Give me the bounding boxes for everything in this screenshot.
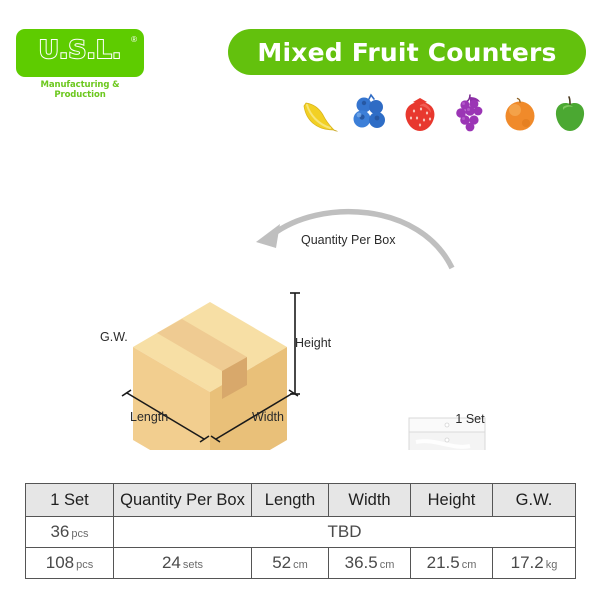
unit-length: cm bbox=[293, 559, 308, 571]
value-length: 52 bbox=[272, 553, 291, 572]
logo-badge: U.S.L. ® bbox=[16, 29, 144, 77]
header-one-set: 1 Set bbox=[26, 484, 114, 517]
header-quantity-per-box: Quantity Per Box bbox=[114, 484, 252, 517]
blueberries-fruit-icon bbox=[350, 90, 390, 138]
cell-tbd: TBD bbox=[114, 517, 576, 548]
brand-tagline: Manufacturing & Production bbox=[16, 80, 144, 100]
value-set-36: 36 bbox=[50, 522, 69, 541]
page-title: Mixed Fruit Counters bbox=[257, 38, 556, 67]
packaging-diagram: G.W. Height Length Width Quantity Per Bo… bbox=[0, 150, 600, 450]
cell-gross-weight: 17.2kg bbox=[493, 548, 576, 579]
header-gross-weight: G.W. bbox=[493, 484, 576, 517]
header-height: Height bbox=[411, 484, 493, 517]
cell-width: 36.5cm bbox=[329, 548, 411, 579]
cell-set-108: 108pcs bbox=[26, 548, 114, 579]
unit-gross-weight: kg bbox=[546, 559, 558, 571]
strawberry-fruit-icon bbox=[400, 90, 440, 138]
unit-quantity-per-box: sets bbox=[183, 559, 203, 571]
green-apple-fruit-icon bbox=[550, 90, 590, 138]
header-width: Width bbox=[329, 484, 411, 517]
orange-fruit-icon bbox=[500, 90, 540, 138]
value-quantity-per-box: 24 bbox=[162, 553, 181, 572]
cell-height: 21.5cm bbox=[411, 548, 493, 579]
label-height: Height bbox=[295, 336, 331, 350]
registered-trademark-icon: ® bbox=[131, 35, 137, 44]
label-one-set: 1 Set bbox=[432, 412, 508, 426]
label-gross-weight: G.W. bbox=[100, 330, 128, 344]
banana-fruit-icon bbox=[300, 90, 340, 138]
label-width: Width bbox=[252, 410, 284, 424]
label-length: Length bbox=[130, 410, 168, 424]
table-row: 108pcs 24sets 52cm 36.5cm 21.5cm 17.2kg bbox=[26, 548, 576, 579]
table-row: 36pcs TBD bbox=[26, 517, 576, 548]
value-set-108: 108 bbox=[46, 553, 74, 572]
carton-box-illustration bbox=[133, 302, 287, 450]
cell-quantity-per-box: 24sets bbox=[114, 548, 252, 579]
cell-set-36: 36pcs bbox=[26, 517, 114, 548]
title-banner: Mixed Fruit Counters bbox=[228, 29, 586, 75]
brand-logo: U.S.L. ® Manufacturing & Production bbox=[16, 29, 144, 100]
unit-set-36: pcs bbox=[71, 528, 88, 540]
unit-height: cm bbox=[462, 559, 477, 571]
value-height: 21.5 bbox=[427, 553, 460, 572]
cell-length: 52cm bbox=[252, 548, 329, 579]
table-header-row: 1 Set Quantity Per Box Length Width Heig… bbox=[26, 484, 576, 517]
header-length: Length bbox=[252, 484, 329, 517]
value-gross-weight: 17.2 bbox=[511, 553, 544, 572]
label-quantity-per-box: Quantity Per Box bbox=[301, 233, 396, 247]
specification-table: 1 Set Quantity Per Box Length Width Heig… bbox=[25, 483, 576, 579]
logo-wordmark: U.S.L. bbox=[16, 35, 144, 64]
fruit-icon-row bbox=[300, 88, 580, 140]
unit-width: cm bbox=[380, 559, 395, 571]
grapes-fruit-icon bbox=[450, 90, 490, 138]
page-header: U.S.L. ® Manufacturing & Production Mixe… bbox=[0, 0, 600, 150]
value-width: 36.5 bbox=[345, 553, 378, 572]
unit-set-108: pcs bbox=[76, 559, 93, 571]
